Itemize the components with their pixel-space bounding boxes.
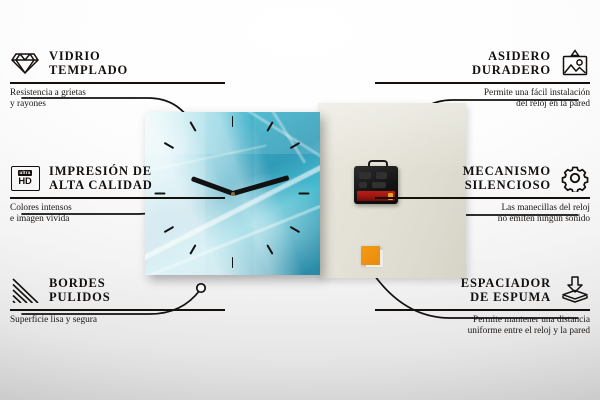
feature-divider (375, 197, 590, 199)
infographic-canvas: VIDRIO TEMPLADO Resistencia a grietas y … (0, 0, 600, 400)
feature-divider (10, 197, 225, 199)
feature-title-line: ALTA CALIDAD (49, 178, 153, 193)
hanging-picture-icon (560, 48, 590, 78)
hd-label: HD (18, 176, 31, 185)
feature-divider (375, 309, 590, 311)
clock-tick (298, 192, 309, 194)
feature-bordes-pulidos: BORDES PULIDOS Superficie lisa y segura (10, 275, 225, 326)
feature-description: Permite una fácil instalación del reloj … (375, 88, 590, 111)
feature-title: ESPACIADOR DE ESPUMA (461, 276, 551, 305)
feature-divider (10, 309, 225, 311)
feature-title: ASIDERO DURADERO (472, 49, 551, 78)
feature-description: Permite mantener una distancia uniforme … (375, 315, 590, 338)
feature-title-line: TEMPLADO (49, 63, 128, 78)
feature-title: IMPRESIÓN DE ALTA CALIDAD (49, 164, 153, 193)
gear-icon (560, 163, 590, 193)
feature-mecanismo-silencioso: MECANISMO SILENCIOSO Las manecillas del … (375, 163, 590, 225)
feature-title: BORDES PULIDOS (49, 276, 111, 305)
feature-vidrio-templado: VIDRIO TEMPLADO Resistencia a grietas y … (10, 48, 225, 110)
feature-title-line: ASIDERO (472, 49, 551, 64)
feature-divider (10, 82, 225, 84)
feature-title: MECANISMO SILENCIOSO (463, 164, 551, 193)
arrow-onto-pad-icon (560, 275, 590, 305)
feature-title-line: MECANISMO (463, 164, 551, 179)
feature-impresion-alta-calidad: ultra HD IMPRESIÓN DE ALTA CALIDAD Color… (10, 163, 225, 225)
diamond-icon (10, 48, 40, 78)
feature-description: Colores intensos e imagen vívida (10, 203, 225, 226)
feature-title-line: PULIDOS (49, 290, 111, 305)
feature-title: VIDRIO TEMPLADO (49, 49, 128, 78)
feature-title-line: SILENCIOSO (463, 178, 551, 193)
feature-description: Las manecillas del reloj no emiten ningú… (375, 203, 590, 226)
feature-description: Resistencia a grietas y rayones (10, 88, 225, 111)
feature-title-line: IMPRESIÓN DE (49, 164, 153, 179)
feature-title-line: DE ESPUMA (461, 290, 551, 305)
feature-asidero-duradero: ASIDERO DURADERO Permite una fácil insta… (375, 48, 590, 110)
feature-espaciador-de-espuma: ESPACIADOR DE ESPUMA Permite mantener un… (375, 275, 590, 337)
feature-description: Superficie lisa y segura (10, 315, 225, 326)
feature-title-line: VIDRIO (49, 49, 128, 64)
feature-title-line: DURADERO (472, 63, 551, 78)
feature-divider (375, 82, 590, 84)
diagonal-lines-icon (10, 275, 40, 305)
ultra-hd-icon: ultra HD (10, 163, 40, 193)
foam-spacer (361, 246, 380, 265)
feature-title-line: ESPACIADOR (461, 276, 551, 291)
clock-center-pin (231, 192, 235, 196)
feature-title-line: BORDES (49, 276, 111, 291)
